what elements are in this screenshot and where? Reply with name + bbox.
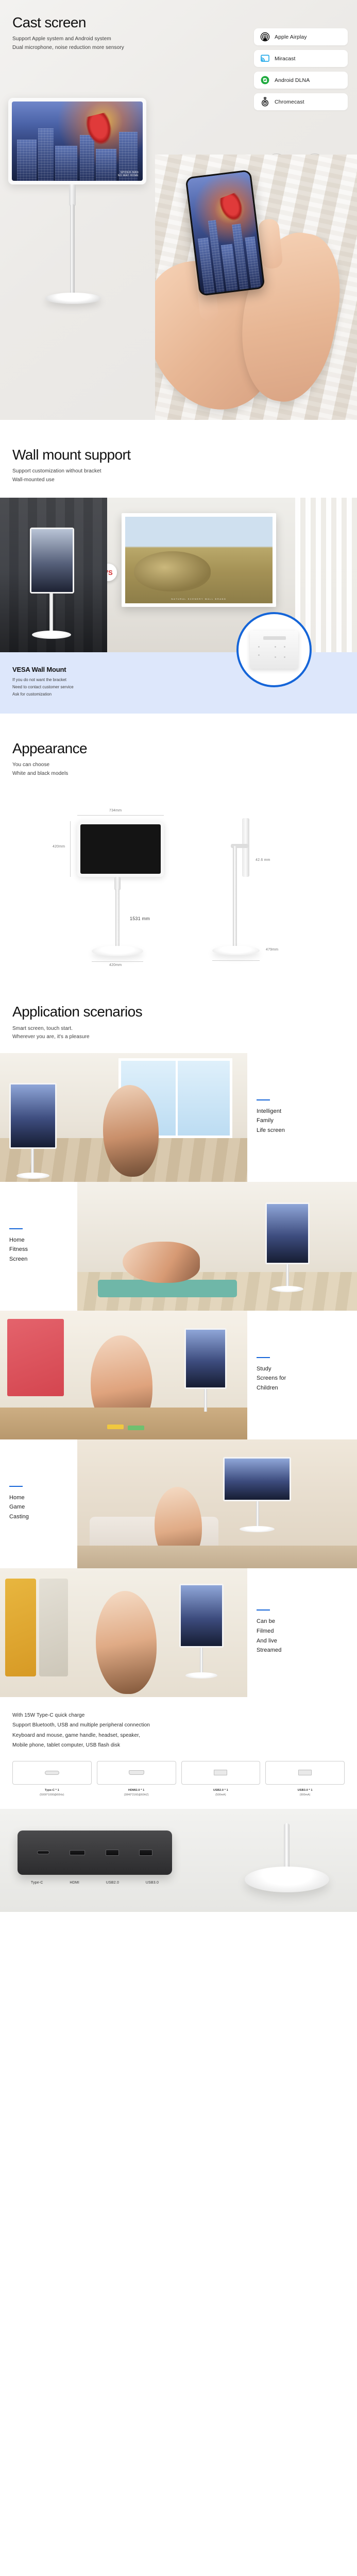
wallmount-subtitle-1: Support customization without bracket: [12, 467, 357, 476]
wall-mode-photo: VS NATURAL SCENERY WALL BRAND: [107, 498, 357, 652]
dlna-icon: [260, 75, 270, 85]
scenario-photo-live: [0, 1568, 247, 1697]
port-card-hdmi: HDMI2.0 * 1(3840*2160@60HZ): [97, 1761, 176, 1798]
side-view-pole: [233, 846, 237, 950]
tv-screen-content: SPIDER-MAN NO WAY HOME: [12, 101, 143, 181]
scenario-row-3: Study Screens for Children: [0, 1311, 357, 1439]
wall-screen-content: NATURAL SCENERY WALL BRAND: [125, 517, 273, 603]
badge-label: Chromecast: [275, 99, 304, 105]
scenario-caption-4: Home Game Casting: [0, 1439, 77, 1568]
stand-tv: [30, 528, 74, 594]
scenario-row-4: Home Game Casting: [0, 1439, 357, 1568]
base-disc: [245, 1867, 329, 1892]
tv-neck: [69, 184, 76, 206]
wallmount-heading-block: Wall mount support Support customization…: [0, 447, 357, 484]
scenario-screen: [265, 1202, 310, 1264]
badge-label: Android DLNA: [275, 77, 310, 83]
tv-pole: [70, 204, 75, 296]
stand-mode-photo: [0, 498, 107, 652]
tv-movie-logo: SPIDER-MAN NO WAY HOME: [118, 171, 139, 178]
front-view-base: [92, 946, 143, 956]
appearance-heading-block: Appearance You can choose White and blac…: [0, 740, 357, 778]
scenario-caption-5: Can be Filmed And live Streamed: [247, 1568, 357, 1697]
usb20-port-shape-box: [181, 1761, 261, 1785]
section-title-wallmount: Wall mount support: [12, 447, 357, 463]
usb30-icon: [298, 1770, 312, 1775]
section-title-appearance: Appearance: [12, 740, 357, 757]
port-card-caption: HDMI2.0 * 1(3840*2160@60HZ): [97, 1788, 176, 1798]
front-view-screen: [77, 821, 164, 877]
side-view-base: [212, 946, 260, 955]
dim-depth-side: 42.6 mm: [256, 858, 270, 862]
cast-screen-section: Cast screen Support Apple system and And…: [0, 0, 357, 420]
vesa-bracket-closeup: [236, 612, 312, 687]
application-scenarios-section: Application scenarios Smart screen, touc…: [0, 983, 357, 1697]
vesa-desc-2: Need to contact customer service: [12, 684, 345, 691]
typec-slot: [37, 1851, 49, 1854]
hdmi-port-shape-box: [97, 1761, 176, 1785]
cast-protocol-badges: Apple Airplay Miracast: [254, 28, 348, 110]
ports-line-4: Mobile phone, tablet computer, USB flash…: [12, 1740, 345, 1751]
dim-base-side: 479mm: [266, 948, 278, 952]
front-view-pole: [115, 888, 120, 950]
port-panel: [18, 1831, 172, 1875]
port-card-caption: USB3.0 * 1(900mA): [265, 1788, 345, 1798]
stand-pole: [49, 594, 53, 634]
port-label-hdmi: HDMI: [70, 1881, 79, 1885]
dim-total-height: 1531 mm: [130, 916, 150, 921]
product-base-photo: [234, 1823, 337, 1901]
port-card-typec: Type-C * 1(5000*1000@60Hz): [12, 1761, 92, 1798]
typec-port-shape-box: [12, 1761, 92, 1785]
section-title-scenarios: Application scenarios: [12, 1004, 357, 1020]
scenarios-subtitle-2: Wherever you are, it's a pleasure: [12, 1033, 357, 1042]
scenario-screen: [179, 1584, 224, 1648]
ports-line-1: With 15W Type-C quick charge: [12, 1710, 345, 1721]
ports-description: With 15W Type-C quick charge Support Blu…: [0, 1710, 357, 1751]
ports-line-3: Keyboard and mouse, game handle, headset…: [12, 1731, 345, 1741]
usb20-icon: [214, 1770, 227, 1775]
port-label-typec: Type-C: [31, 1881, 43, 1885]
scenario-caption-3: Study Screens for Children: [247, 1311, 357, 1439]
scenario-caption-1: Intelligent Family Life screen: [247, 1053, 357, 1182]
dim-width-top: 734mm: [109, 809, 122, 812]
scenario-screen: [223, 1457, 291, 1501]
miracast-icon: [260, 54, 270, 63]
accent-dash: [9, 1228, 23, 1229]
typec-icon: [45, 1771, 59, 1775]
port-card-caption: USB2.0 * 1(500mA): [181, 1788, 261, 1798]
badge-chromecast[interactable]: Chromecast: [254, 93, 348, 110]
wall-mounted-screen: NATURAL SCENERY WALL BRAND: [122, 513, 276, 607]
ports-closeup-photo: Type-C HDMI USB2.0 USB3.0: [0, 1809, 357, 1912]
scenarios-heading-block: Application scenarios Smart screen, touc…: [0, 1004, 357, 1041]
accent-dash: [257, 1099, 270, 1100]
port-spec-cards: Type-C * 1(5000*1000@60Hz) HDMI2.0 * 1(3…: [0, 1751, 357, 1798]
scenario-caption-2: Home Fitness Screen: [0, 1182, 77, 1311]
usb30-port-shape-box: [265, 1761, 345, 1785]
scenario-row-5: Can be Filmed And live Streamed: [0, 1568, 357, 1697]
appearance-section: Appearance You can choose White and blac…: [0, 714, 357, 983]
scenario-screen: [9, 1083, 57, 1149]
page-title: Cast screen: [12, 14, 124, 31]
accent-dash: [9, 1486, 23, 1487]
ports-section: With 15W Type-C quick charge Support Blu…: [0, 1697, 357, 1912]
scenario-row-1: Intelligent Family Life screen: [0, 1053, 357, 1182]
appearance-subtitle-1: You can choose: [12, 761, 357, 770]
scenario-photo-study: [0, 1311, 247, 1439]
badge-android-dlna[interactable]: Android DLNA: [254, 72, 348, 89]
vesa-info-panel: VESA Wall Mount If you do not want the b…: [0, 652, 357, 714]
tv-base: [45, 293, 101, 304]
hdmi-slot: [70, 1850, 85, 1855]
phone-screen: [187, 171, 264, 294]
scenario-photo-family: [0, 1053, 247, 1182]
scenario-row-2: Home Fitness Screen: [0, 1182, 357, 1311]
accent-dash: [257, 1357, 270, 1358]
badge-apple-airplay[interactable]: Apple Airplay: [254, 28, 348, 45]
usb30-slot: [139, 1850, 152, 1856]
dimension-diagram: 734mm 420mm 1531 mm 420mm 42.6 mm 479mm: [0, 787, 357, 973]
badge-miracast[interactable]: Miracast: [254, 50, 348, 67]
frame-caption: NATURAL SCENERY WALL BRAND: [125, 598, 273, 600]
port-card-caption: Type-C * 1(5000*1000@60Hz): [12, 1788, 92, 1798]
port-label-usb20: USB2.0: [106, 1881, 119, 1885]
product-landing-page: Cast screen Support Apple system and And…: [0, 0, 357, 2576]
chromecast-icon: [260, 97, 270, 107]
cast-subtitle-1: Support Apple system and Android system: [12, 35, 124, 44]
badge-label: Miracast: [275, 56, 295, 62]
vs-badge: VS: [107, 564, 117, 581]
scenario-photo-game: [77, 1439, 357, 1568]
scenario-screen: [184, 1328, 227, 1389]
usb20-slot: [106, 1850, 119, 1856]
vesa-desc-3: Ask for customization: [12, 691, 345, 698]
vesa-mount-plate: [250, 631, 298, 669]
cast-subtitle-2: Dual microphone, noise reduction more se…: [12, 44, 124, 53]
port-card-usb30: USB3.0 * 1(900mA): [265, 1761, 345, 1798]
tv-body: SPIDER-MAN NO WAY HOME: [8, 98, 146, 184]
airplay-icon: [260, 32, 270, 42]
hdmi-icon: [129, 1770, 144, 1775]
appearance-subtitle-2: White and black models: [12, 770, 357, 778]
tv-illustration: SPIDER-MAN NO WAY HOME: [8, 98, 163, 319]
accent-dash: [257, 1609, 270, 1611]
dim-base-front: 420mm: [109, 963, 122, 967]
port-label-usb30: USB3.0: [146, 1881, 159, 1885]
port-card-usb20: USB2.0 * 1(500mA): [181, 1761, 261, 1798]
port-labels: Type-C HDMI USB2.0 USB3.0: [18, 1881, 172, 1885]
cast-heading-block: Cast screen Support Apple system and And…: [12, 14, 124, 52]
base-pole: [284, 1823, 290, 1873]
dim-height-left: 420mm: [53, 845, 65, 849]
hand-phone-photo: [155, 155, 357, 420]
wall-mount-section: Wall mount support Support customization…: [0, 420, 357, 714]
scenarios-subtitle-1: Smart screen, touch start.: [12, 1025, 357, 1033]
ports-line-2: Support Bluetooth, USB and multiple peri…: [12, 1720, 345, 1731]
wallmount-subtitle-2: Wall-mounted use: [12, 476, 357, 485]
badge-label: Apple Airplay: [275, 34, 307, 40]
scenario-photo-fitness: [77, 1182, 357, 1311]
